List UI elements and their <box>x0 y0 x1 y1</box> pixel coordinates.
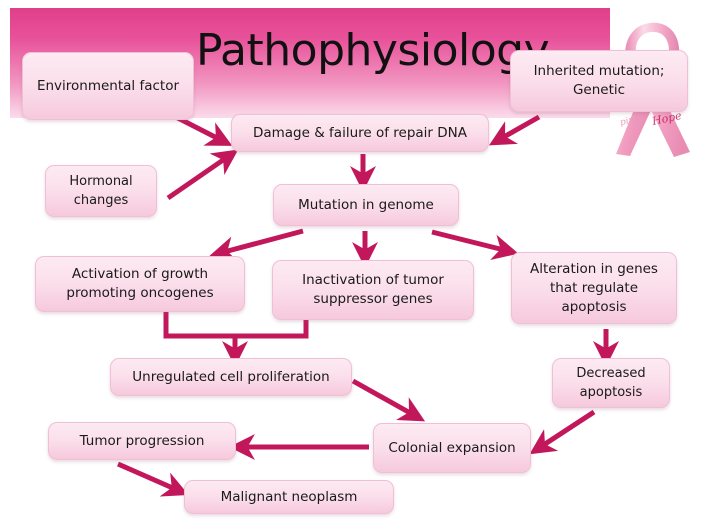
arrow-mutation-to-activation <box>224 231 303 252</box>
node-inactivation-suppressor-genes[interactable]: Inactivation of tumor suppressor genes <box>272 260 474 320</box>
node-alteration-regulate-apoptosis[interactable]: Alteration in genes that regulate apopto… <box>511 252 677 324</box>
arrow-hormonal-to-damage <box>168 158 226 198</box>
node-environmental-factor[interactable]: Environmental factor <box>22 52 194 120</box>
arrow-tumor-to-malignant <box>118 464 175 489</box>
node-activation-oncogenes[interactable]: Activation of growth promoting oncogenes <box>35 256 245 312</box>
node-tumor-progression[interactable]: Tumor progression <box>48 422 236 460</box>
pathophysiology-diagram: Pathophysiology <box>0 0 705 527</box>
arrow-unregulated-to-colonial <box>353 381 412 414</box>
page-title: Pathophysiology <box>196 22 526 82</box>
node-mutation-in-genome[interactable]: Mutation in genome <box>273 184 459 226</box>
node-damage-failure-repair-dna[interactable]: Damage & failure of repair DNA <box>231 114 489 152</box>
node-hormonal-changes[interactable]: Hormonal changes <box>45 165 157 217</box>
arrow-mutation-to-alteration <box>432 232 504 250</box>
node-unregulated-cell-proliferation[interactable]: Unregulated cell proliferation <box>110 358 352 396</box>
node-malignant-neoplasm[interactable]: Malignant neoplasm <box>184 480 394 514</box>
arrow-decreased-to-colonial <box>542 412 594 446</box>
arrow-inherited-to-damage <box>502 117 539 138</box>
node-decreased-apoptosis[interactable]: Decreased apoptosis <box>552 358 670 408</box>
node-inherited-mutation[interactable]: Inherited mutation; Genetic <box>510 50 688 112</box>
node-colonial-expansion[interactable]: Colonial expansion <box>373 423 531 473</box>
